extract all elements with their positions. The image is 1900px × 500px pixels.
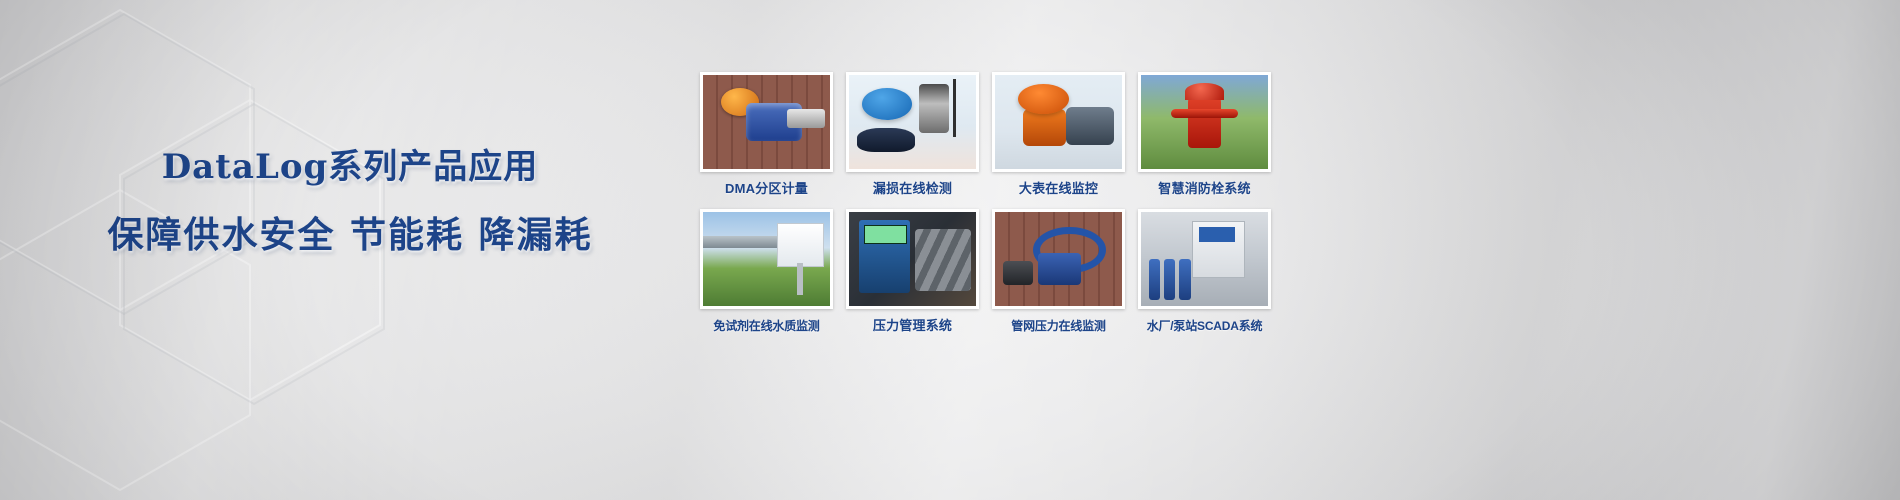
- large-meter-photo: [995, 75, 1122, 169]
- dma-zone-metering-photo: [703, 75, 830, 169]
- product-label: 水厂/泵站SCADA系统: [1138, 318, 1271, 334]
- promo-banner: DataLog系列产品应用 保障供水安全 节能耗 降漏耗 DMA分区计量 漏: [0, 0, 1900, 500]
- product-card-dma-zone-metering[interactable]: DMA分区计量: [700, 72, 833, 197]
- network-pressure-valve-photo: [995, 212, 1122, 306]
- product-card-large-meter-monitoring[interactable]: 大表在线监控: [992, 72, 1125, 197]
- product-thumbnail[interactable]: [1138, 209, 1271, 309]
- headline-block: DataLog系列产品应用 保障供水安全 节能耗 降漏耗: [0, 146, 700, 258]
- scada-pump-room-photo: [1141, 212, 1268, 306]
- smart-hydrant-photo: [1141, 75, 1268, 169]
- product-card-smart-hydrant[interactable]: 智慧消防栓系统: [1138, 72, 1271, 197]
- product-card-network-pressure-monitoring[interactable]: 管网压力在线监测: [992, 209, 1125, 334]
- headline-line-1: DataLog系列产品应用: [0, 146, 700, 188]
- product-label: DMA分区计量: [700, 181, 833, 197]
- product-thumbnail[interactable]: [700, 209, 833, 309]
- product-label: 智慧消防栓系统: [1138, 181, 1271, 197]
- headline-line-2: 保障供水安全 节能耗 降漏耗: [0, 214, 700, 258]
- leak-logger-photo: [849, 75, 976, 169]
- product-card-leak-detection[interactable]: 漏损在线检测: [846, 72, 979, 197]
- product-label: 压力管理系统: [846, 318, 979, 334]
- product-thumbnail[interactable]: [992, 209, 1125, 309]
- product-grid: DMA分区计量 漏损在线检测 大表在线监控: [700, 72, 1290, 334]
- product-card-water-quality-monitoring[interactable]: 免试剂在线水质监测: [700, 209, 833, 334]
- water-quality-station-photo: [703, 212, 830, 306]
- product-label: 大表在线监控: [992, 181, 1125, 197]
- product-grid-row-1: DMA分区计量 漏损在线检测 大表在线监控: [700, 72, 1290, 197]
- product-label: 免试剂在线水质监测: [700, 318, 833, 334]
- product-thumbnail[interactable]: [1138, 72, 1271, 172]
- product-thumbnail[interactable]: [992, 72, 1125, 172]
- product-label: 漏损在线检测: [846, 181, 979, 197]
- product-thumbnail[interactable]: [700, 72, 833, 172]
- product-thumbnail[interactable]: [846, 72, 979, 172]
- product-thumbnail[interactable]: [846, 209, 979, 309]
- pressure-management-cabinet-photo: [849, 212, 976, 306]
- product-grid-row-2: 免试剂在线水质监测 压力管理系统 管网压力在线监测: [700, 209, 1290, 334]
- product-label: 管网压力在线监测: [992, 318, 1125, 334]
- product-card-scada-system[interactable]: 水厂/泵站SCADA系统: [1138, 209, 1271, 334]
- product-card-pressure-management[interactable]: 压力管理系统: [846, 209, 979, 334]
